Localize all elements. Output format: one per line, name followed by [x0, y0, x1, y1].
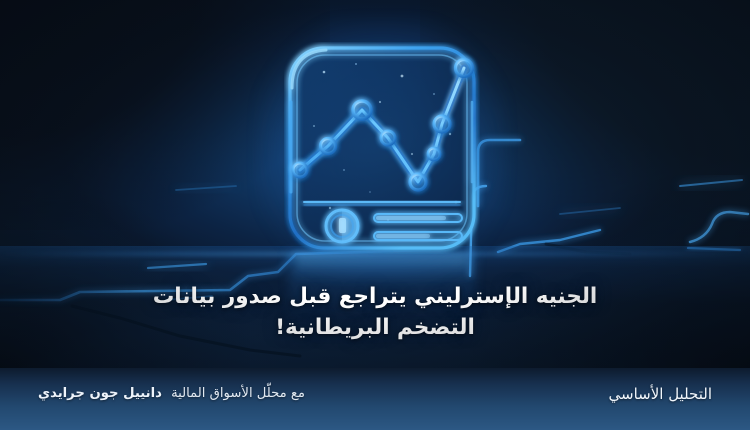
headline-line-2: التضخم البريطانية!: [70, 313, 680, 344]
byline-prefix: مع محلّل الأسواق المالية: [171, 386, 305, 401]
byline: مع محلّل الأسواق المالية دانييل جون جراي…: [38, 386, 305, 401]
donut-chart: [326, 210, 358, 242]
headline-line-1: الجنيه الإسترليني يتراجع قبل صدور بيانات: [70, 282, 680, 313]
analytics-card-icon: [284, 42, 480, 254]
byline-author: دانييل جون جرايدي: [38, 386, 162, 401]
footer-content: مع محلّل الأسواق المالية دانييل جون جراي…: [0, 368, 750, 430]
thumbnail-canvas: الجنيه الإسترليني يتراجع قبل صدور بيانات…: [0, 0, 750, 430]
category-label: التحليل الأساسي: [609, 385, 713, 403]
headline: الجنيه الإسترليني يتراجع قبل صدور بيانات…: [0, 282, 750, 343]
